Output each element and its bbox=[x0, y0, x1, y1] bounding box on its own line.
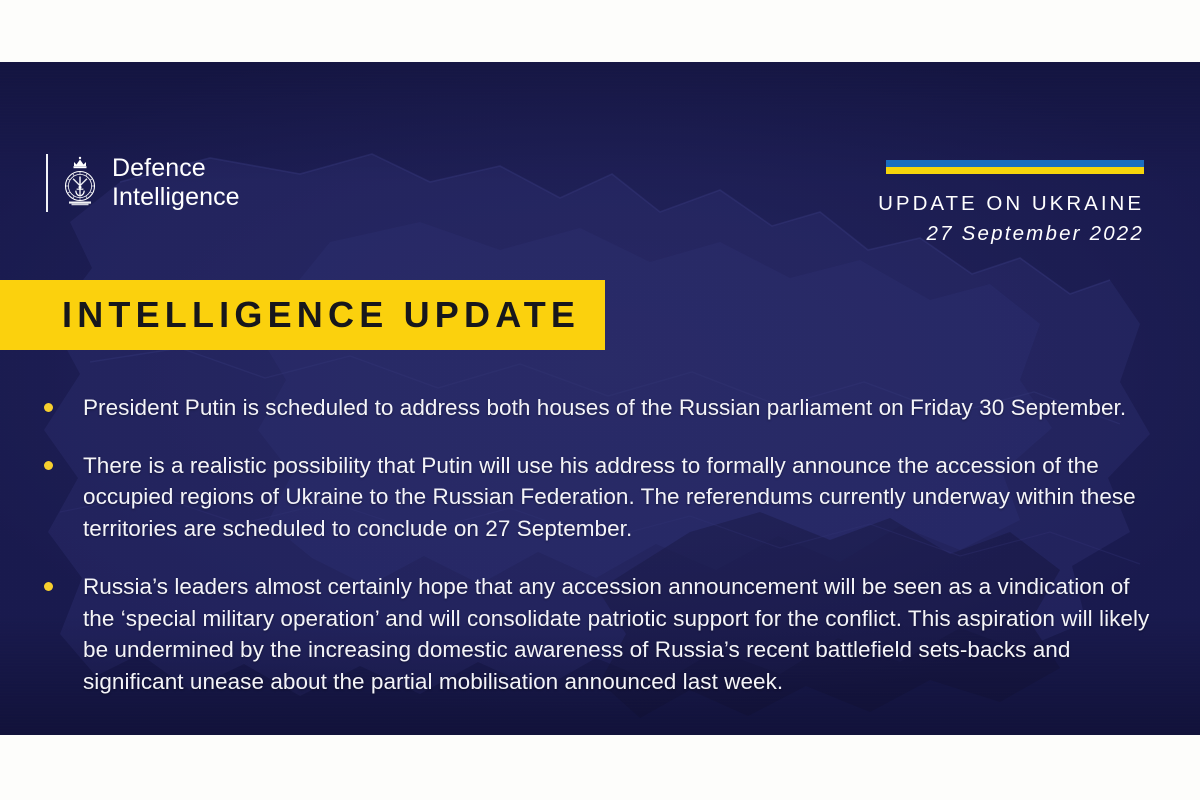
header-kicker: UPDATE ON UKRAINE bbox=[878, 192, 1144, 216]
navy-card: Defence Intelligence UPDATE ON UKRAINE 2… bbox=[0, 62, 1200, 735]
flag-bar-yellow bbox=[886, 167, 1144, 174]
logo-wordmark: Defence Intelligence bbox=[112, 154, 240, 212]
bullet-text: President Putin is scheduled to address … bbox=[83, 392, 1126, 424]
header-right-block: UPDATE ON UKRAINE 27 September 2022 bbox=[878, 160, 1144, 246]
bullet-dot-icon bbox=[44, 461, 53, 470]
logo-line-intelligence: Intelligence bbox=[112, 183, 240, 212]
bullet-text: There is a realistic possibility that Pu… bbox=[83, 450, 1160, 545]
header-date: 27 September 2022 bbox=[878, 222, 1144, 246]
intelligence-update-graphic: Defence Intelligence UPDATE ON UKRAINE 2… bbox=[0, 0, 1200, 800]
bullet-dot-icon bbox=[44, 582, 53, 591]
bullet-list: President Putin is scheduled to address … bbox=[0, 392, 1200, 724]
logo-line-defence: Defence bbox=[112, 154, 240, 183]
defence-intelligence-logo: Defence Intelligence bbox=[46, 154, 240, 212]
defence-intelligence-crest-icon bbox=[60, 154, 100, 212]
ukraine-flag-bars-icon bbox=[886, 160, 1144, 174]
list-item: President Putin is scheduled to address … bbox=[0, 392, 1200, 424]
flag-bar-blue bbox=[886, 160, 1144, 167]
banner-title: INTELLIGENCE UPDATE bbox=[62, 294, 580, 336]
intelligence-update-banner: INTELLIGENCE UPDATE bbox=[0, 280, 605, 350]
list-item: There is a realistic possibility that Pu… bbox=[0, 450, 1200, 545]
bullet-dot-icon bbox=[44, 403, 53, 412]
bullet-text: Russia’s leaders almost certainly hope t… bbox=[83, 571, 1160, 698]
logo-divider-rule bbox=[46, 154, 48, 212]
list-item: Russia’s leaders almost certainly hope t… bbox=[0, 571, 1200, 698]
